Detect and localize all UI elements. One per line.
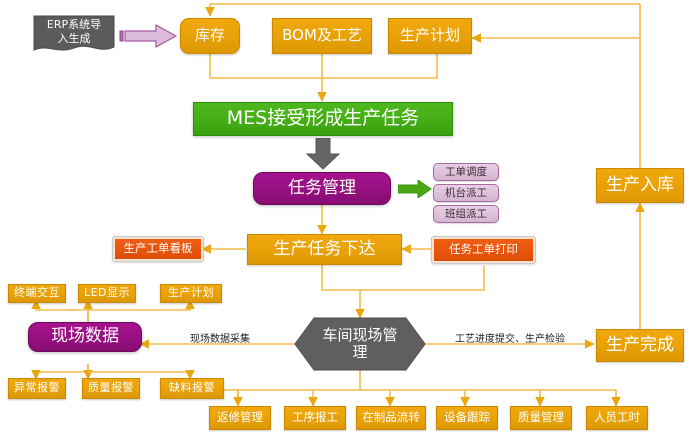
node-production-complete[interactable]: 生产完成 [596, 329, 684, 362]
node-work-order-kanban[interactable]: 生产工单看板 [113, 237, 203, 261]
connector-layer [0, 0, 692, 438]
node-site-data[interactable]: 现场数据 [28, 322, 142, 352]
node-inventory[interactable]: 库存 [180, 18, 240, 54]
node-workshop-label: 车间现场管 理 [314, 327, 406, 362]
node-plan-display[interactable]: 生产计划 [160, 284, 222, 303]
node-labor-hours[interactable]: 人员工时 [586, 406, 648, 430]
node-exception-alarm[interactable]: 异常报警 [8, 378, 66, 399]
edge-label-site-data-collection: 现场数据采集 [190, 330, 250, 345]
node-equipment-tracking-label: 设备跟踪 [444, 411, 490, 424]
node-production-plan-label: 生产计划 [400, 27, 460, 44]
flowchart-canvas: ERP系统导 入生成 库存 BOM及工艺 生产计划 MES接受形成生产任务 任务… [0, 0, 692, 438]
node-exception-alarm-label: 异常报警 [14, 382, 60, 395]
node-plan-display-label: 生产计划 [168, 287, 214, 300]
edge-label-process-progress: 工艺进度提交、生产检验 [455, 330, 565, 345]
node-bom-process[interactable]: BOM及工艺 [272, 18, 372, 54]
node-labor-hours-label: 人员工时 [594, 411, 640, 424]
node-task-release[interactable]: 生产任务下达 [247, 234, 402, 265]
node-led-display-label: LED显示 [84, 287, 130, 300]
node-work-order-kanban-label: 生产工单看板 [124, 242, 193, 255]
import-arrow-icon [118, 23, 178, 49]
node-production-warehousing[interactable]: 生产入库 [596, 168, 684, 203]
node-mes-receive-label: MES接受形成生产任务 [227, 108, 419, 130]
node-process-reporting-label: 工序报工 [292, 411, 338, 424]
node-material-shortage-alarm-label: 缺料报警 [169, 382, 215, 395]
node-work-order-scheduling[interactable]: 工单调度 [433, 163, 499, 181]
dispatch-arrow-icon [398, 180, 432, 198]
node-quality-alarm[interactable]: 质量报警 [82, 378, 140, 399]
node-site-data-label: 现场数据 [51, 327, 119, 347]
node-work-order-scheduling-label: 工单调度 [445, 166, 487, 178]
node-rework-management[interactable]: 返修管理 [209, 406, 271, 430]
node-wip-flow[interactable]: 在制品流转 [356, 406, 426, 430]
node-rework-management-label: 返修管理 [217, 411, 263, 424]
erp-source-label: ERP系统导 入生成 [47, 18, 101, 50]
erp-source-document: ERP系统导 入生成 [32, 14, 116, 54]
node-task-management[interactable]: 任务管理 [253, 172, 391, 205]
node-production-complete-label: 生产完成 [606, 336, 674, 356]
node-material-shortage-alarm[interactable]: 缺料报警 [160, 378, 224, 399]
node-bom-process-label: BOM及工艺 [282, 27, 362, 44]
node-work-order-print-label: 任务工单打印 [449, 243, 518, 256]
node-machine-dispatch[interactable]: 机台派工 [433, 184, 499, 202]
node-quality-alarm-label: 质量报警 [88, 382, 134, 395]
node-led-display[interactable]: LED显示 [78, 284, 136, 303]
node-equipment-tracking[interactable]: 设备跟踪 [436, 406, 498, 430]
erp-label-line1: ERP系统导 [47, 18, 101, 32]
node-mes-receive[interactable]: MES接受形成生产任务 [193, 102, 453, 136]
node-wip-flow-label: 在制品流转 [362, 411, 420, 424]
node-production-plan[interactable]: 生产计划 [388, 18, 472, 54]
node-task-management-label: 任务管理 [288, 179, 356, 199]
node-quality-management[interactable]: 质量管理 [510, 406, 572, 430]
node-workshop-site-management[interactable]: 车间现场管 理 [294, 317, 426, 371]
erp-label-line2: 入生成 [47, 32, 101, 46]
node-production-warehousing-label: 生产入库 [606, 176, 674, 196]
node-task-release-label: 生产任务下达 [274, 240, 376, 260]
node-terminal-interaction[interactable]: 终端交互 [8, 284, 66, 303]
node-machine-dispatch-label: 机台派工 [445, 187, 487, 199]
node-inventory-label: 库存 [195, 27, 225, 44]
node-workshop-label-line1: 车间现场管 [314, 327, 406, 344]
node-team-dispatch[interactable]: 班组派工 [433, 205, 499, 223]
down-arrow-icon [306, 138, 340, 170]
node-process-reporting[interactable]: 工序报工 [284, 406, 346, 430]
node-work-order-print[interactable]: 任务工单打印 [432, 237, 535, 263]
node-terminal-interaction-label: 终端交互 [14, 287, 60, 300]
node-quality-management-label: 质量管理 [518, 411, 564, 424]
node-team-dispatch-label: 班组派工 [445, 208, 487, 220]
node-workshop-label-line2: 理 [314, 344, 406, 361]
